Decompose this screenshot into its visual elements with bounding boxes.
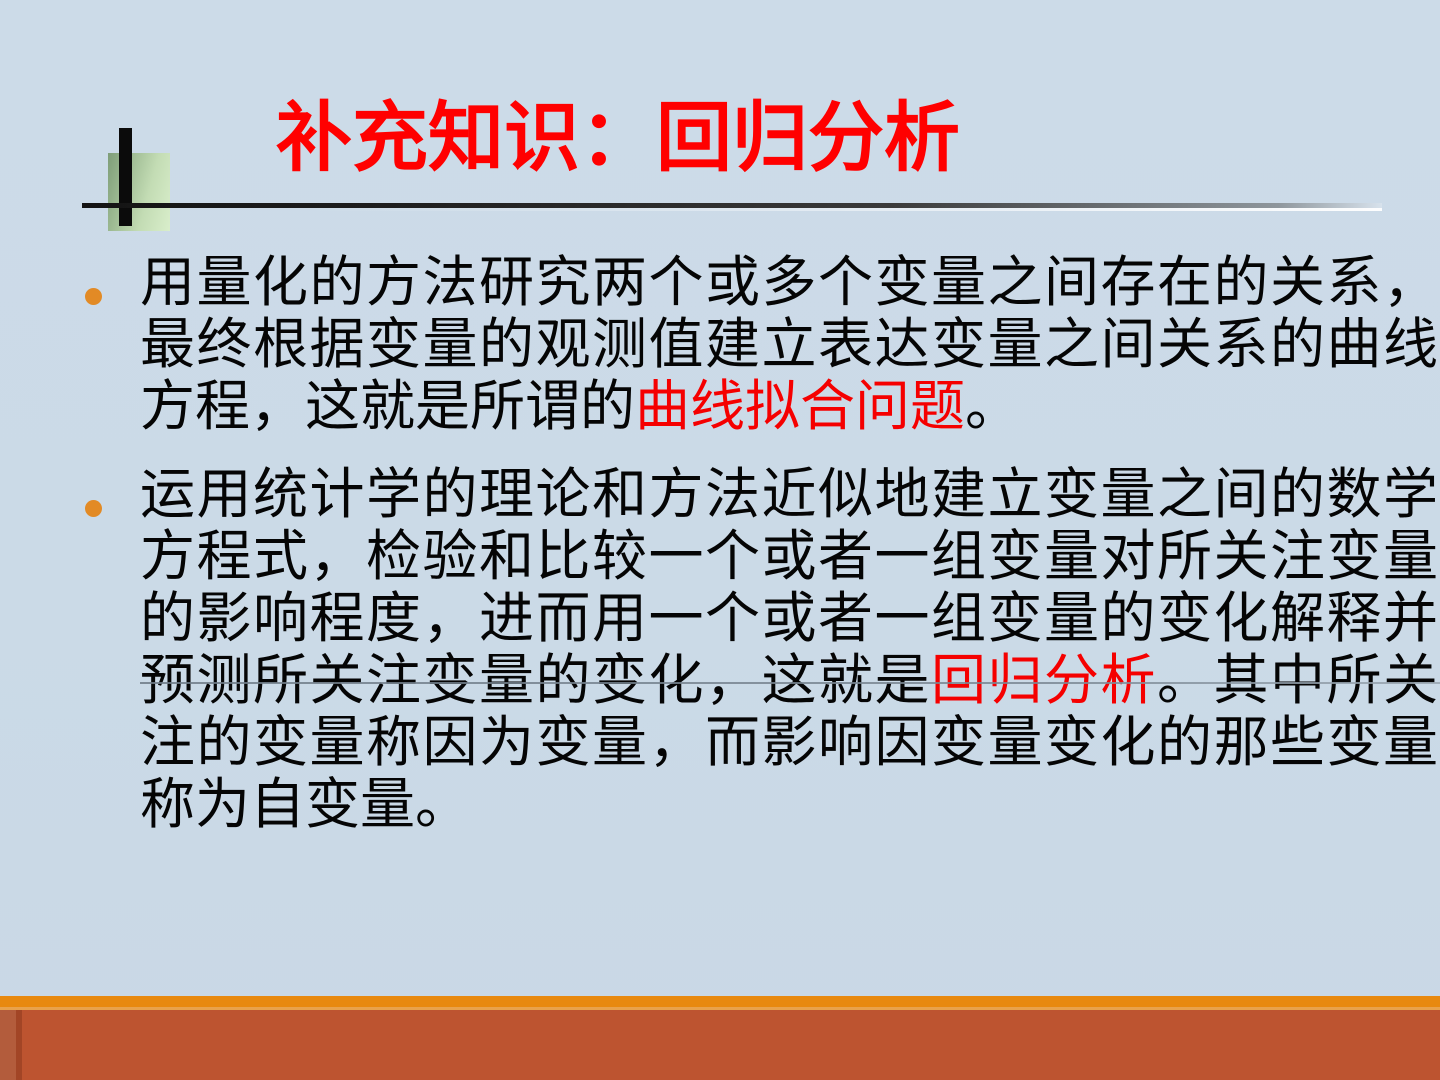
bullet-dot-icon (85, 288, 102, 305)
page-title: 补充知识：回归分析 (276, 92, 960, 184)
paragraph-1-highlight: 曲线拟合问题 (635, 376, 965, 437)
paragraph-1-text: 用量化的方法研究两个或多个变量之间存在的关系，最终根据变量的观测值建立表达变量之… (140, 252, 1438, 438)
bullet-dot-icon (85, 500, 102, 517)
footer-orange-band (0, 996, 1440, 1007)
paragraph-2-text: 运用统计学的理论和方法近似地建立变量之间的数学方程式，检验和比较一个或者一组变量… (140, 464, 1438, 836)
thin-horizontal-rule-artifact (140, 682, 1440, 684)
footer-brick-band (0, 1010, 1440, 1080)
list-item: 用量化的方法研究两个或多个变量之间存在的关系，最终根据变量的观测值建立表达变量之… (0, 252, 1440, 438)
title-divider-highlight (300, 208, 1382, 211)
black-vertical-bar-decoration (119, 128, 132, 226)
list-item: 运用统计学的理论和方法近似地建立变量之间的数学方程式，检验和比较一个或者一组变量… (0, 464, 1440, 836)
green-gradient-block-decoration (108, 153, 170, 231)
footer-left-edge-dark (16, 1010, 22, 1080)
paragraph-1-segment-3: 。 (965, 376, 1020, 437)
slide-canvas: 补充知识：回归分析 用量化的方法研究两个或多个变量之间存在的关系，最终根据变量的… (0, 0, 1440, 1080)
body-content: 用量化的方法研究两个或多个变量之间存在的关系，最终根据变量的观测值建立表达变量之… (0, 252, 1440, 846)
title-area: 补充知识：回归分析 (0, 0, 1440, 240)
footer-left-edge-light (0, 1010, 16, 1080)
paragraph-2-highlight: 回归分析 (931, 650, 1157, 711)
